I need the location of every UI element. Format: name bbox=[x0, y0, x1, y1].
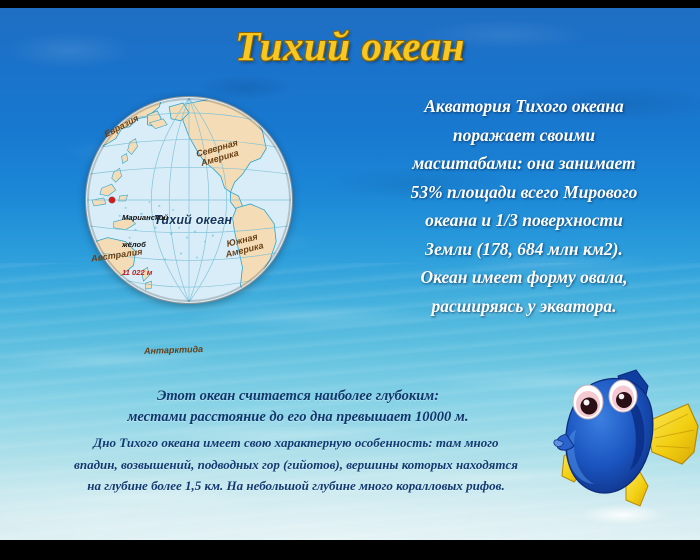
intro-line: Акватория Тихого океана bbox=[352, 92, 696, 121]
intro-line: масштабами: она занимает bbox=[352, 149, 696, 178]
cartoon-fish-dory bbox=[548, 360, 700, 538]
fish-svg bbox=[548, 360, 700, 538]
intro-line: расширяясь у экватора. bbox=[352, 292, 696, 321]
globe-svg bbox=[86, 97, 292, 303]
intro-line: Земли (178, 684 млн км2). bbox=[352, 235, 696, 264]
fish-tail-fin bbox=[646, 404, 698, 464]
letterbox-top bbox=[0, 0, 700, 8]
letterbox-bottom bbox=[0, 540, 700, 560]
depth-line: Этот океан считается наиболее глубоким: bbox=[18, 386, 578, 407]
fish-shadow bbox=[576, 504, 668, 526]
intro-line: 53% площади всего Мирового bbox=[352, 178, 696, 207]
intro-line: поражает своими bbox=[352, 121, 696, 150]
intro-paragraph: Акватория Тихого океана поражает своими … bbox=[352, 92, 696, 320]
depth-paragraph: Этот океан считается наиболее глубоким: … bbox=[18, 386, 578, 428]
page-title: Тихий океан bbox=[0, 22, 700, 70]
pacific-ocean-globe-map: Евразия Северная Америка Южная Америка А… bbox=[85, 96, 293, 304]
mariana-trench-marker-dot bbox=[109, 197, 115, 203]
seafloor-line: на глубине более 1,5 км. На небольшой гл… bbox=[6, 475, 586, 497]
seafloor-line: впадин, возвышений, подводных гор (гийот… bbox=[6, 454, 586, 476]
intro-line: Океан имеет форму овала, bbox=[352, 263, 696, 292]
intro-line: океана и 1/3 поверхности bbox=[352, 206, 696, 235]
seafloor-paragraph: Дно Тихого океана имеет свою характерную… bbox=[6, 432, 586, 497]
depth-line: местами расстояние до его дна превышает … bbox=[18, 407, 578, 428]
globe-disc bbox=[85, 96, 293, 304]
slide-root: Тихий океан bbox=[0, 0, 700, 560]
seafloor-line: Дно Тихого океана имеет свою характерную… bbox=[6, 432, 586, 454]
